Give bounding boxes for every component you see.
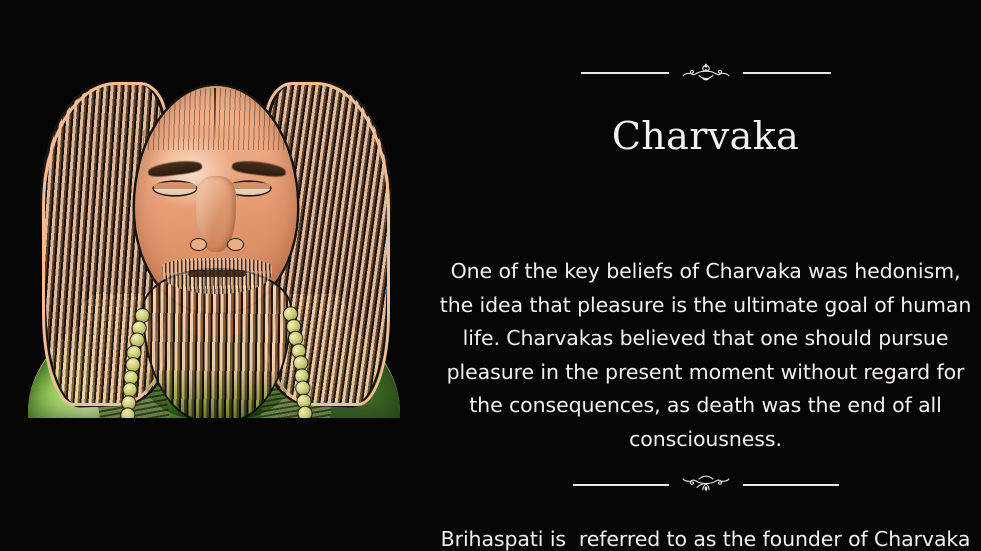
flourish-scroll-icon	[669, 474, 743, 496]
ornamental-divider-top	[430, 62, 981, 84]
beard-green-shading	[144, 366, 290, 418]
mouth-line	[188, 270, 246, 277]
body-paragraph-1: One of the key beliefs of Charvaka was h…	[436, 255, 975, 456]
portrait-panel	[0, 0, 430, 551]
divider-rule-left	[573, 484, 669, 486]
ornamental-divider-bottom	[430, 474, 981, 496]
divider-rule-left	[581, 72, 669, 74]
presentation-slide: Charvaka One of the key beliefs of Charv…	[0, 0, 981, 551]
flourish-scroll-icon	[669, 62, 743, 84]
divider-rule-right	[743, 484, 839, 486]
nostril-left	[190, 238, 207, 251]
nostril-right	[227, 238, 244, 251]
charvaka-sage-illustration	[28, 80, 400, 418]
text-panel: Charvaka One of the key beliefs of Charv…	[430, 0, 981, 551]
prayer-bead	[125, 357, 141, 373]
page-title: Charvaka	[430, 114, 981, 158]
eyelid-left	[154, 182, 196, 189]
prayer-bead	[297, 405, 313, 418]
hair-part-line	[214, 88, 216, 142]
body-copy: One of the key beliefs of Charvaka was h…	[436, 188, 975, 551]
body-paragraph-2: Brihaspati is referred to as the founder…	[436, 523, 975, 551]
divider-rule-right	[743, 72, 831, 74]
